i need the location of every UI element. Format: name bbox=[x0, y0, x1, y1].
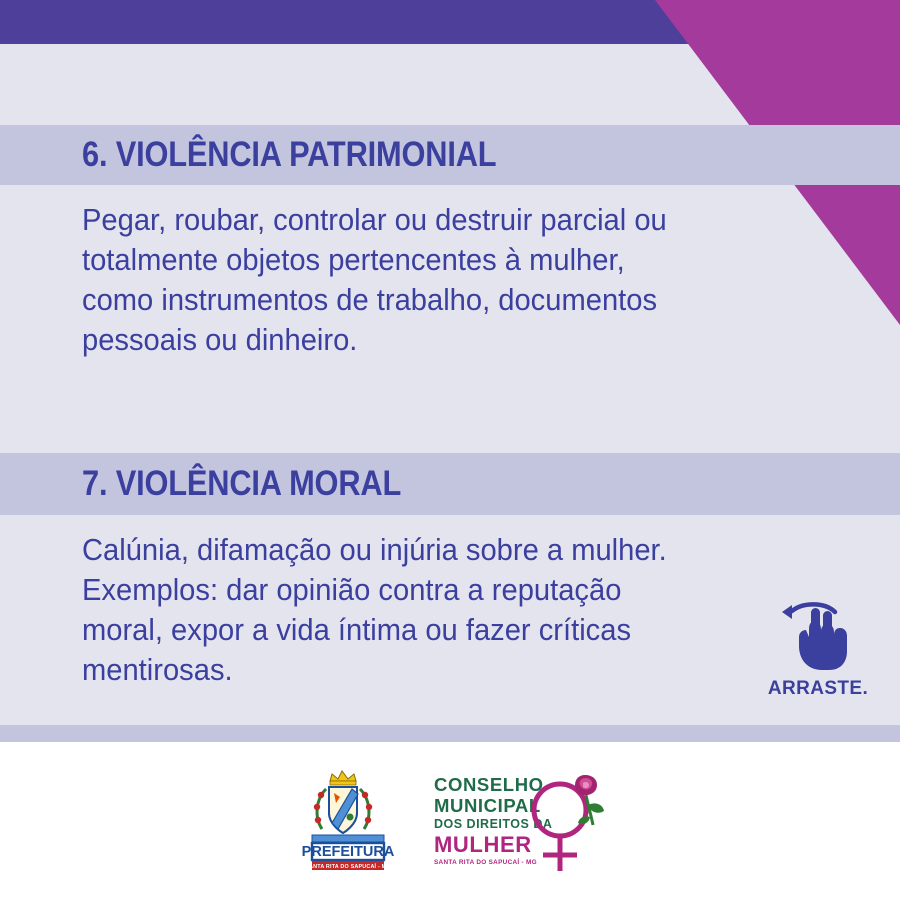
swipe-hint-label: ARRASTE. bbox=[758, 678, 878, 700]
swipe-hand-icon bbox=[775, 596, 861, 676]
body-line: mentirosas. bbox=[82, 650, 740, 690]
conselho-mulher-logo: CONSELHO MUNICIPAL DOS DIREITOS DA MULHE… bbox=[430, 767, 608, 875]
prefeitura-name: PREFEITURA bbox=[302, 844, 395, 860]
body-line: Calúnia, difamação ou injúria sobre a mu… bbox=[82, 530, 740, 570]
body-line: Pegar, roubar, controlar ou destruir par… bbox=[82, 200, 740, 240]
prefeitura-subtitle: SANTA RITA DO SAPUCAÍ - MG bbox=[305, 862, 390, 870]
section-body-patrimonial: Pegar, roubar, controlar ou destruir par… bbox=[82, 200, 740, 360]
swipe-hint[interactable]: ARRASTE. bbox=[758, 596, 878, 706]
conselho-line2: MUNICIPAL bbox=[434, 795, 541, 816]
body-line: moral, expor a vida íntima ou fazer crít… bbox=[82, 610, 740, 650]
conselho-line4: MULHER bbox=[434, 832, 532, 857]
conselho-line1: CONSELHO bbox=[434, 774, 544, 795]
body-line: pessoais ou dinheiro. bbox=[82, 320, 740, 360]
section-title-moral: 7. VIOLÊNCIA MORAL bbox=[82, 464, 401, 504]
body-line: Exemplos: dar opinião contra a reputação bbox=[82, 570, 740, 610]
conselho-subtitle: SANTA RITA DO SAPUCAÍ - MG bbox=[434, 857, 537, 866]
body-line: totalmente objetos pertencentes à mulher… bbox=[82, 240, 740, 280]
rose-icon bbox=[575, 775, 604, 825]
body-line: como instrumentos de trabalho, documento… bbox=[82, 280, 740, 320]
footer-logos: PREFEITURA SANTA RITA DO SAPUCAÍ - MG CO… bbox=[0, 742, 900, 900]
prefeitura-logo: PREFEITURA SANTA RITA DO SAPUCAÍ - MG bbox=[292, 765, 404, 877]
section-body-moral: Calúnia, difamação ou injúria sobre a mu… bbox=[82, 530, 740, 690]
slide-canvas: 6. VIOLÊNCIA PATRIMONIAL Pegar, roubar, … bbox=[0, 0, 900, 900]
section-title-patrimonial: 6. VIOLÊNCIA PATRIMONIAL bbox=[82, 135, 496, 175]
content-layer: 6. VIOLÊNCIA PATRIMONIAL Pegar, roubar, … bbox=[0, 0, 900, 742]
